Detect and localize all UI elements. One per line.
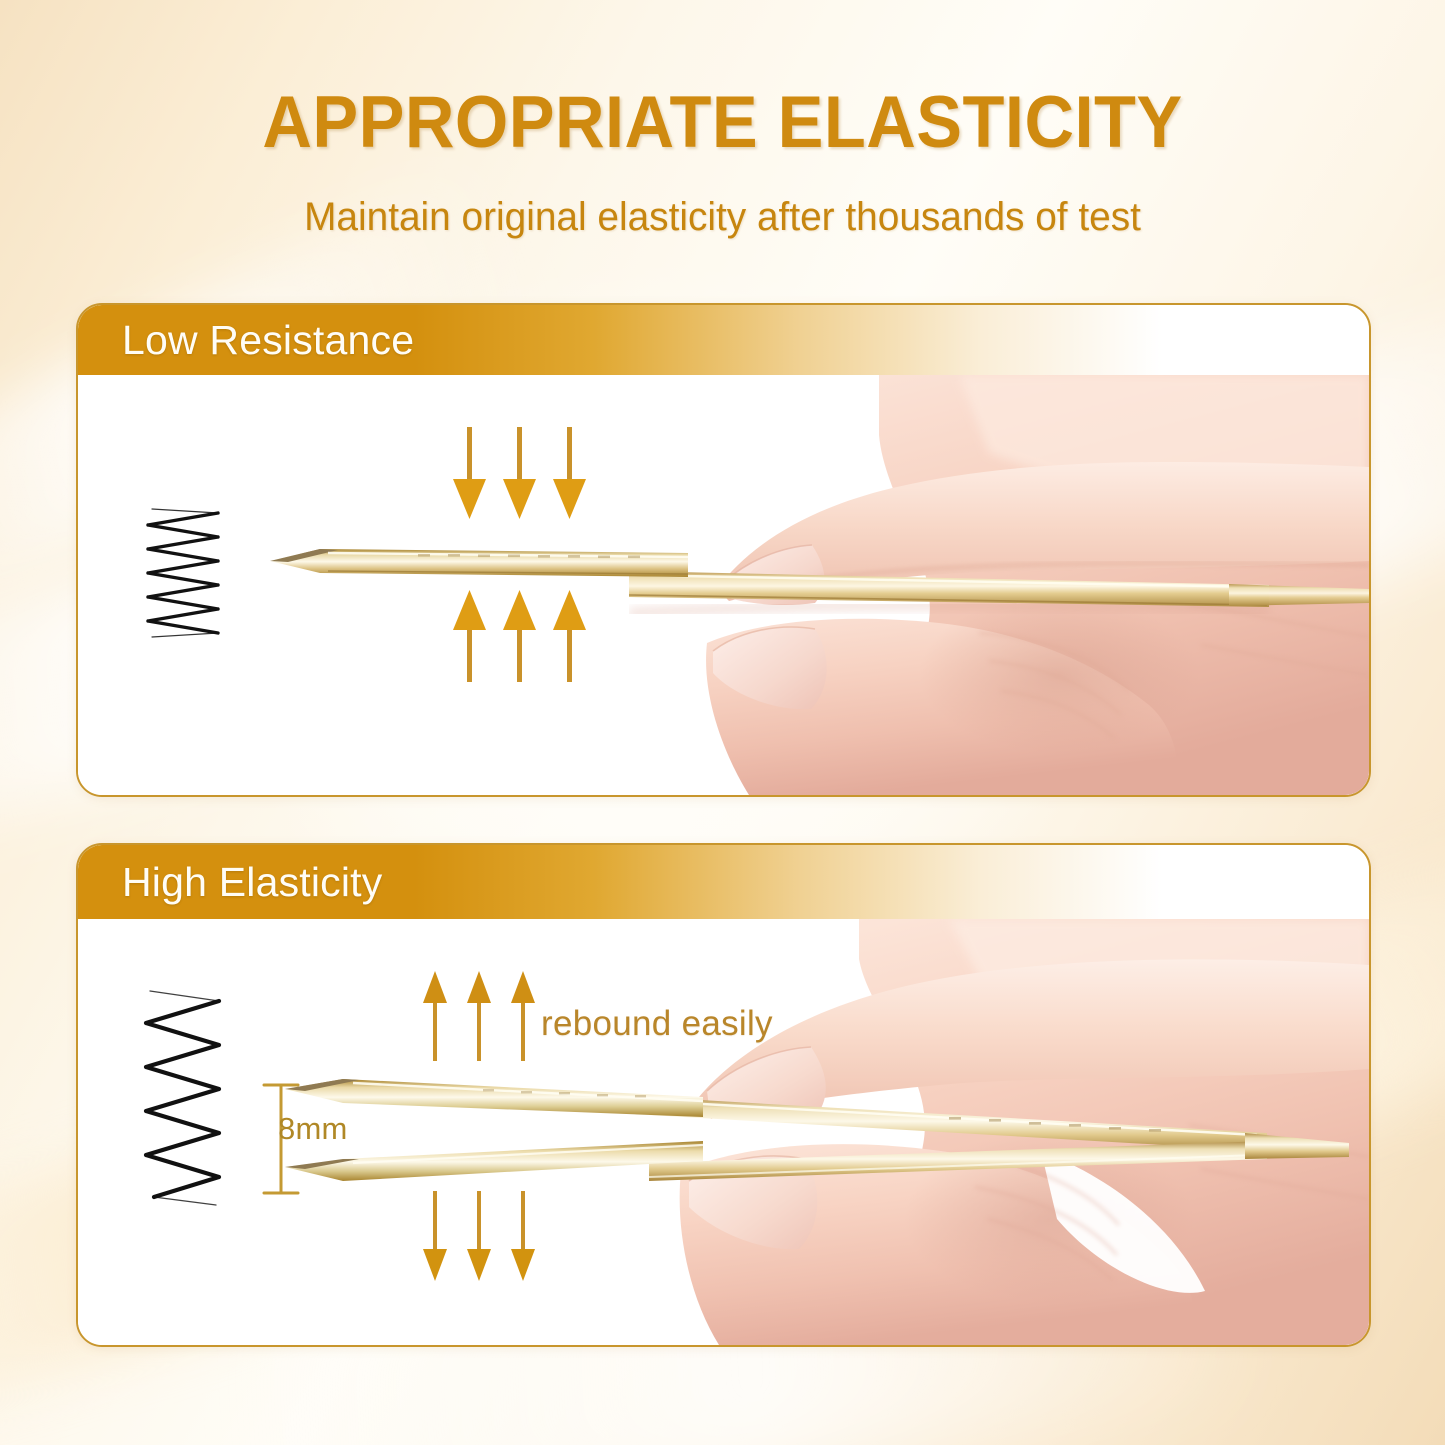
arrow-up-icon bbox=[511, 971, 535, 1061]
arrows-up-group bbox=[423, 969, 543, 1061]
compressed-spring-icon bbox=[128, 505, 238, 640]
arrows-down-group bbox=[423, 1191, 543, 1283]
hand-holding-open-tweezers-photo bbox=[649, 919, 1369, 1345]
arrow-down-icon bbox=[453, 427, 486, 519]
panel-body-high-elasticity: rebound easily 8mm bbox=[78, 919, 1369, 1345]
panel-high-elasticity: High Elasticity bbox=[76, 843, 1371, 1347]
panel-banner-label: Low Resistance bbox=[122, 317, 414, 364]
page-subtitle: Maintain original elasticity after thous… bbox=[22, 195, 1424, 240]
page-header: APPROPRIATE ELASTICITY Maintain original… bbox=[0, 86, 1445, 240]
arrows-up-group bbox=[453, 587, 588, 682]
arrow-up-icon bbox=[423, 971, 447, 1061]
tweezers-open-tips-graphic bbox=[283, 1071, 703, 1211]
infographic-page: APPROPRIATE ELASTICITY Maintain original… bbox=[0, 0, 1445, 1445]
arrow-up-icon bbox=[453, 590, 486, 682]
arrow-down-icon bbox=[423, 1191, 447, 1281]
arrow-down-icon bbox=[467, 1191, 491, 1281]
page-title: APPROPRIATE ELASTICITY bbox=[43, 86, 1401, 159]
panel-low-resistance: Low Resistance bbox=[76, 303, 1371, 797]
panel-banner-high-elasticity: High Elasticity bbox=[78, 845, 1369, 919]
panel-banner-label: High Elasticity bbox=[122, 859, 382, 906]
extended-spring-icon bbox=[124, 985, 244, 1210]
panel-body-low-resistance bbox=[78, 375, 1369, 795]
arrow-up-icon bbox=[503, 590, 536, 682]
arrow-down-icon bbox=[511, 1191, 535, 1281]
arrow-down-icon bbox=[503, 427, 536, 519]
arrow-up-icon bbox=[553, 590, 586, 682]
arrows-down-group bbox=[453, 427, 588, 522]
hand-squeezing-closed-tweezers-photo bbox=[629, 375, 1369, 795]
tweezers-closed-tip-graphic bbox=[268, 529, 688, 599]
rebound-annotation: rebound easily bbox=[541, 1004, 773, 1044]
panel-banner-low-resistance: Low Resistance bbox=[78, 305, 1369, 375]
arrow-up-icon bbox=[467, 971, 491, 1061]
arrow-down-icon bbox=[553, 427, 586, 519]
